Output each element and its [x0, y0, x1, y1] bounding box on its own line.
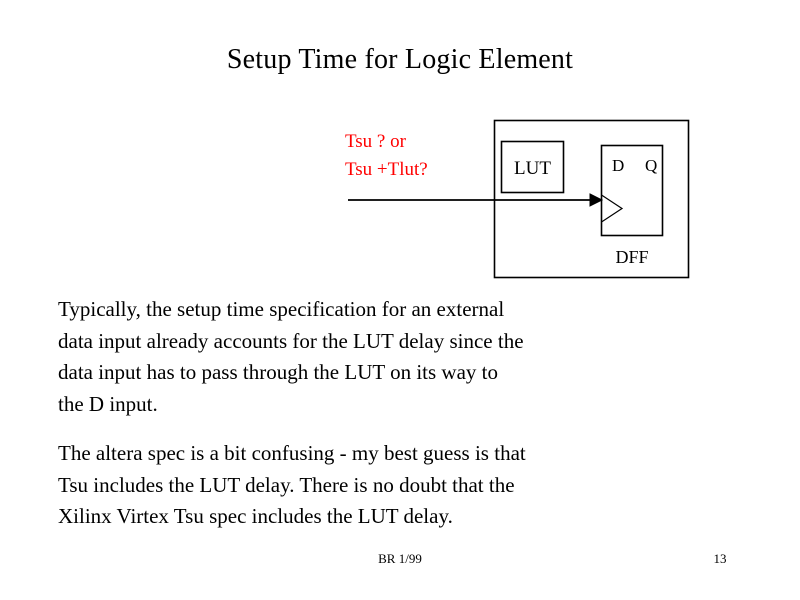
- page-title: Setup Time for Logic Element: [0, 42, 800, 78]
- paragraph-line: Xilinx Virtex Tsu spec includes the LUT …: [58, 501, 678, 533]
- dff-pin-d-label: D: [612, 156, 624, 175]
- paragraph-altera-spec: The altera spec is a bit confusing - my …: [58, 438, 678, 533]
- data-input-arrowhead-icon: [590, 194, 602, 206]
- logic-element-diagram: LUT D Q DFF: [340, 112, 700, 292]
- dff-pin-q-label: Q: [645, 156, 657, 175]
- paragraph-line: Typically, the setup time specification …: [58, 294, 678, 326]
- paragraph-setup-time: Typically, the setup time specification …: [58, 294, 678, 420]
- clock-edge-triangle-icon: [602, 195, 623, 222]
- lut-label: LUT: [514, 158, 551, 179]
- slide-canvas: Setup Time for Logic Element Tsu ? or Ts…: [0, 0, 800, 600]
- paragraph-line: data input has to pass through the LUT o…: [58, 357, 678, 389]
- logic-element-svg: LUT D Q DFF: [340, 112, 700, 292]
- footer-attribution: BR 1/99: [0, 550, 800, 568]
- dff-label: DFF: [615, 247, 648, 267]
- paragraph-line: Tsu includes the LUT delay. There is no …: [58, 470, 678, 502]
- paragraph-line: The altera spec is a bit confusing - my …: [58, 438, 678, 470]
- paragraph-line: data input already accounts for the LUT …: [58, 326, 678, 358]
- slide-page-number: 13: [690, 550, 750, 568]
- paragraph-line: the D input.: [58, 389, 678, 421]
